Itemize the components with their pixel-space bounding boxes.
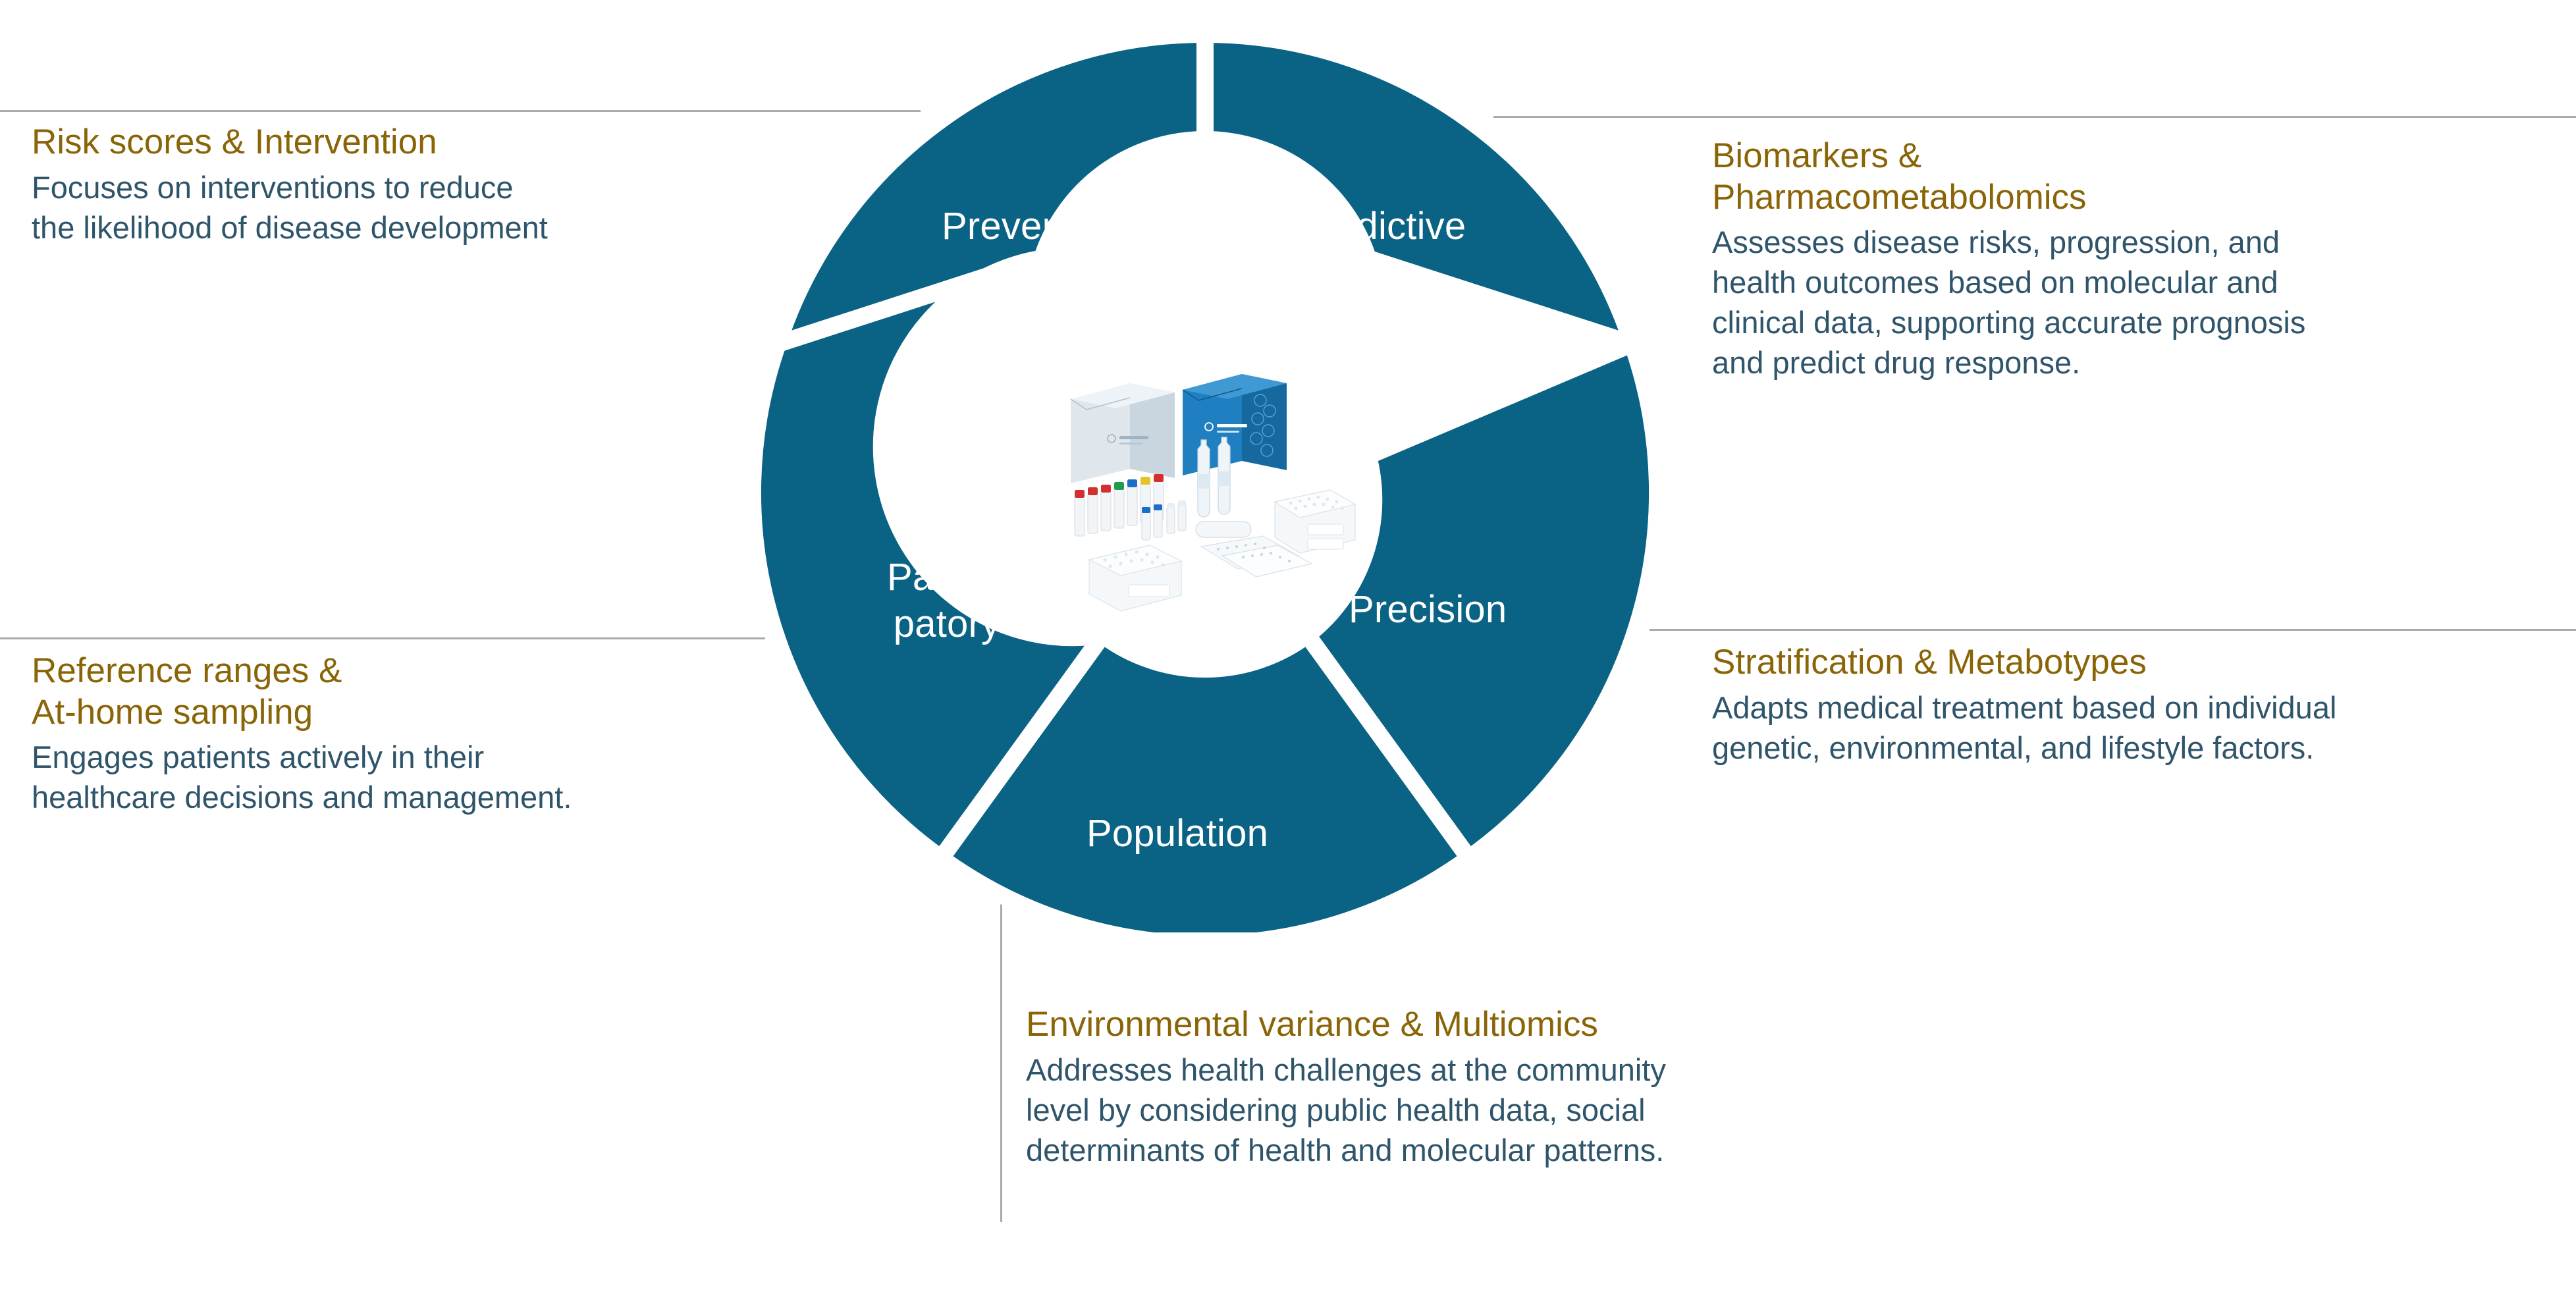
callout-environmental-variance: Environmental variance & Multiomics Addr…	[1026, 1004, 1908, 1170]
separator-middle-left	[0, 637, 765, 639]
callout-environmental-body: Addresses health challenges at the commu…	[1026, 1050, 1908, 1170]
separator-top-right	[1493, 116, 2576, 118]
diagram-canvas: Preventive Predictive Precision Populati…	[0, 0, 2576, 1290]
callout-reference-body: Engages patients actively in their healt…	[32, 737, 756, 817]
callout-risk-heading: Risk scores & Intervention	[32, 122, 756, 163]
biocrates-kit-photo	[1034, 312, 1376, 655]
callout-biomarkers: Biomarkers & Pharmacometabolomics Assess…	[1712, 136, 2555, 383]
separator-bottom-vertical	[1000, 900, 1002, 1222]
p5-medicine-wheel: Preventive Predictive Precision Populati…	[756, 34, 1654, 932]
callout-reference-ranges: Reference ranges & At-home sampling Enga…	[32, 651, 756, 817]
callout-biomarkers-heading: Biomarkers & Pharmacometabolomics	[1712, 136, 2555, 218]
wheel-segment-preventive[interactable]	[778, 34, 1205, 344]
callout-biomarkers-body: Assesses disease risks, progression, and…	[1712, 222, 2555, 383]
kit-illustration-icon	[1046, 358, 1364, 622]
wheel-segment-predictive[interactable]	[1205, 34, 1632, 344]
callout-risk-body: Focuses on interventions to reduce the l…	[32, 167, 756, 248]
callout-stratification: Stratification & Metabotypes Adapts medi…	[1712, 642, 2562, 768]
callout-environmental-heading: Environmental variance & Multiomics	[1026, 1004, 1908, 1046]
callout-stratification-body: Adapts medical treatment based on indivi…	[1712, 687, 2562, 768]
callout-reference-heading: Reference ranges & At-home sampling	[32, 651, 756, 733]
callout-stratification-heading: Stratification & Metabotypes	[1712, 642, 2562, 684]
callout-risk-scores: Risk scores & Intervention Focuses on in…	[32, 122, 756, 248]
separator-middle-right	[1650, 629, 2576, 631]
